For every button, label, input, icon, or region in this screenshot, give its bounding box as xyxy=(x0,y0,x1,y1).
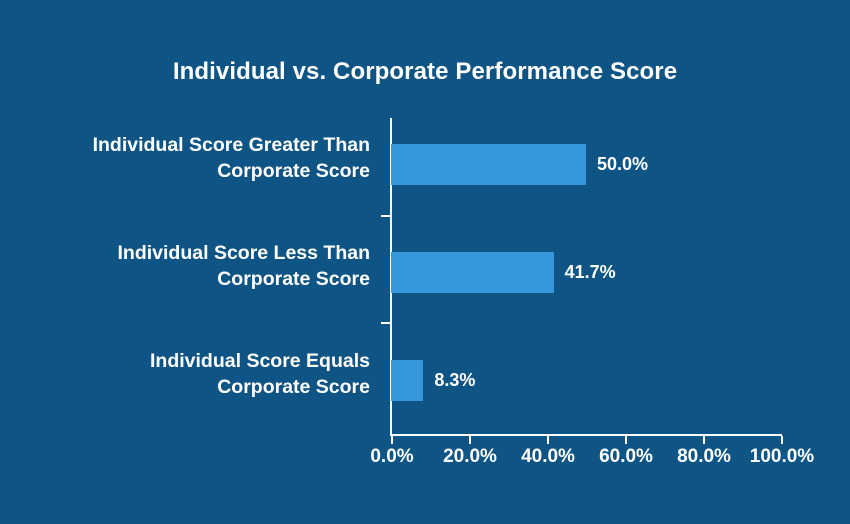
y-axis-tick-0 xyxy=(381,215,391,217)
x-axis-tick-5 xyxy=(781,436,783,444)
x-axis-tick-4 xyxy=(703,436,705,444)
x-axis-tick-0 xyxy=(391,436,393,444)
category-label-0-line-0: Individual Score Greater Than xyxy=(10,133,370,159)
category-label-2: Individual Score Equals Corporate Score xyxy=(10,349,370,400)
x-axis-tick-2 xyxy=(547,436,549,444)
chart-title: Individual vs. Corporate Performance Sco… xyxy=(0,58,850,86)
bar-individual-less xyxy=(391,252,554,293)
bar-individual-greater xyxy=(391,144,586,185)
category-label-1-line-1: Corporate Score xyxy=(10,267,370,293)
x-axis-tick-3 xyxy=(625,436,627,444)
x-axis-tick-label-5: 100.0% xyxy=(727,446,837,468)
category-label-0-line-1: Corporate Score xyxy=(10,159,370,185)
bar-value-label-1: 41.7% xyxy=(565,262,616,283)
x-axis-line xyxy=(391,434,782,436)
bar-value-label-2: 8.3% xyxy=(434,370,475,391)
bar-chart: Individual vs. Corporate Performance Sco… xyxy=(0,0,850,524)
bar-individual-equals xyxy=(391,360,423,401)
category-label-0: Individual Score Greater Than Corporate … xyxy=(10,133,370,184)
bar-value-label-0: 50.0% xyxy=(597,154,648,175)
x-axis-tick-1 xyxy=(469,436,471,444)
category-label-1: Individual Score Less Than Corporate Sco… xyxy=(10,241,370,292)
category-label-1-line-0: Individual Score Less Than xyxy=(10,241,370,267)
category-label-2-line-1: Corporate Score xyxy=(10,375,370,401)
category-label-2-line-0: Individual Score Equals xyxy=(10,349,370,375)
y-axis-tick-1 xyxy=(381,322,391,324)
